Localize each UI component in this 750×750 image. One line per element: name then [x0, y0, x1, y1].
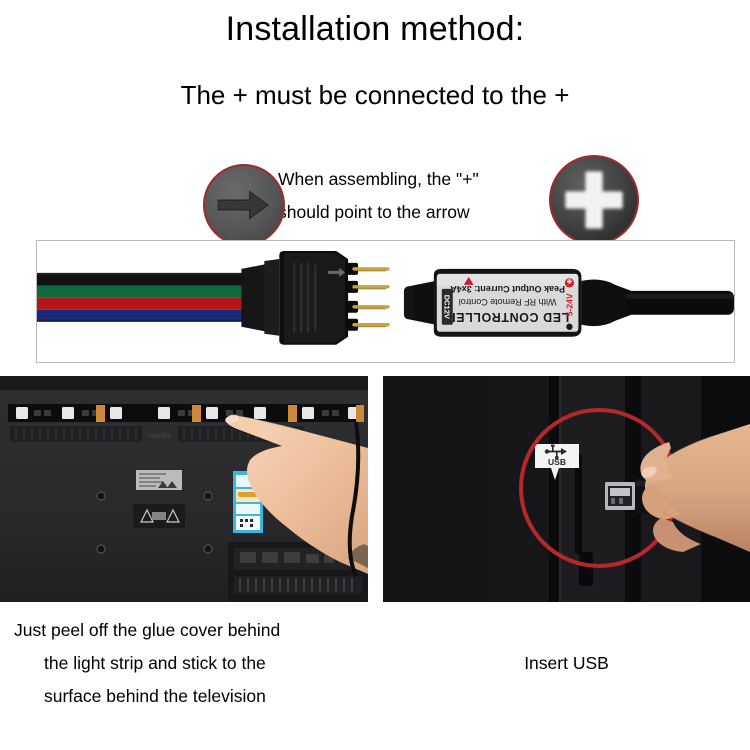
- caption-left-line-3: surface behind the television: [14, 680, 374, 713]
- zoom-bubble-arrow: [203, 164, 285, 246]
- led-strip: [8, 404, 364, 422]
- usb-insert-photo: USB: [383, 376, 750, 602]
- svg-text:5-24V: 5-24V: [564, 293, 574, 316]
- page-title: Installation method:: [0, 10, 750, 49]
- product-diagram-art: LED CONTROLLER With RF Remote Control Pe…: [37, 241, 734, 363]
- tv-brand-text: PHILIPS: [148, 434, 171, 440]
- svg-text:DC12V: DC12V: [442, 295, 451, 319]
- page-subtitle: The + must be connected to the +: [0, 80, 750, 111]
- plus-icon: [551, 157, 637, 243]
- caption-left-line-2: the light strip and stick to the: [14, 647, 374, 680]
- assembly-note-line-2: should point to the arrow: [278, 196, 548, 229]
- usb-insert-scene: USB: [383, 376, 750, 602]
- arrow-right-icon: [205, 166, 283, 244]
- tv-back-scene: PHILIPS: [0, 376, 368, 602]
- rgb-4pin-connector: [279, 251, 388, 345]
- assembly-note: When assembling, the "+" should point to…: [278, 163, 548, 229]
- controller-line-2: With RF Remote Control: [459, 297, 557, 307]
- tv-back-led-strip-photo: PHILIPS: [0, 376, 368, 602]
- caption-left: Just peel off the glue cover behind the …: [14, 614, 374, 713]
- tv-spec-sticker: [136, 470, 182, 490]
- zoom-bubble-plus: [549, 155, 639, 245]
- rgb-wire-ribbon: [37, 273, 258, 322]
- controller-line-3: Peak Output Current: 3x4A: [450, 284, 565, 294]
- tv-warning-plate: [133, 504, 185, 528]
- connector-pins: [354, 269, 388, 325]
- led-controller: LED CONTROLLER With RF Remote Control Pe…: [404, 269, 734, 337]
- caption-right: Insert USB: [383, 647, 750, 680]
- controller-side-label: DC12V: [442, 289, 453, 325]
- product-diagram-panel: LED CONTROLLER With RF Remote Control Pe…: [36, 240, 735, 363]
- assembly-note-line-1: When assembling, the "+": [278, 163, 548, 196]
- caption-left-line-1: Just peel off the glue cover behind: [14, 614, 374, 647]
- controller-title: LED CONTROLLER: [446, 310, 569, 324]
- usb-label: USB: [548, 457, 566, 467]
